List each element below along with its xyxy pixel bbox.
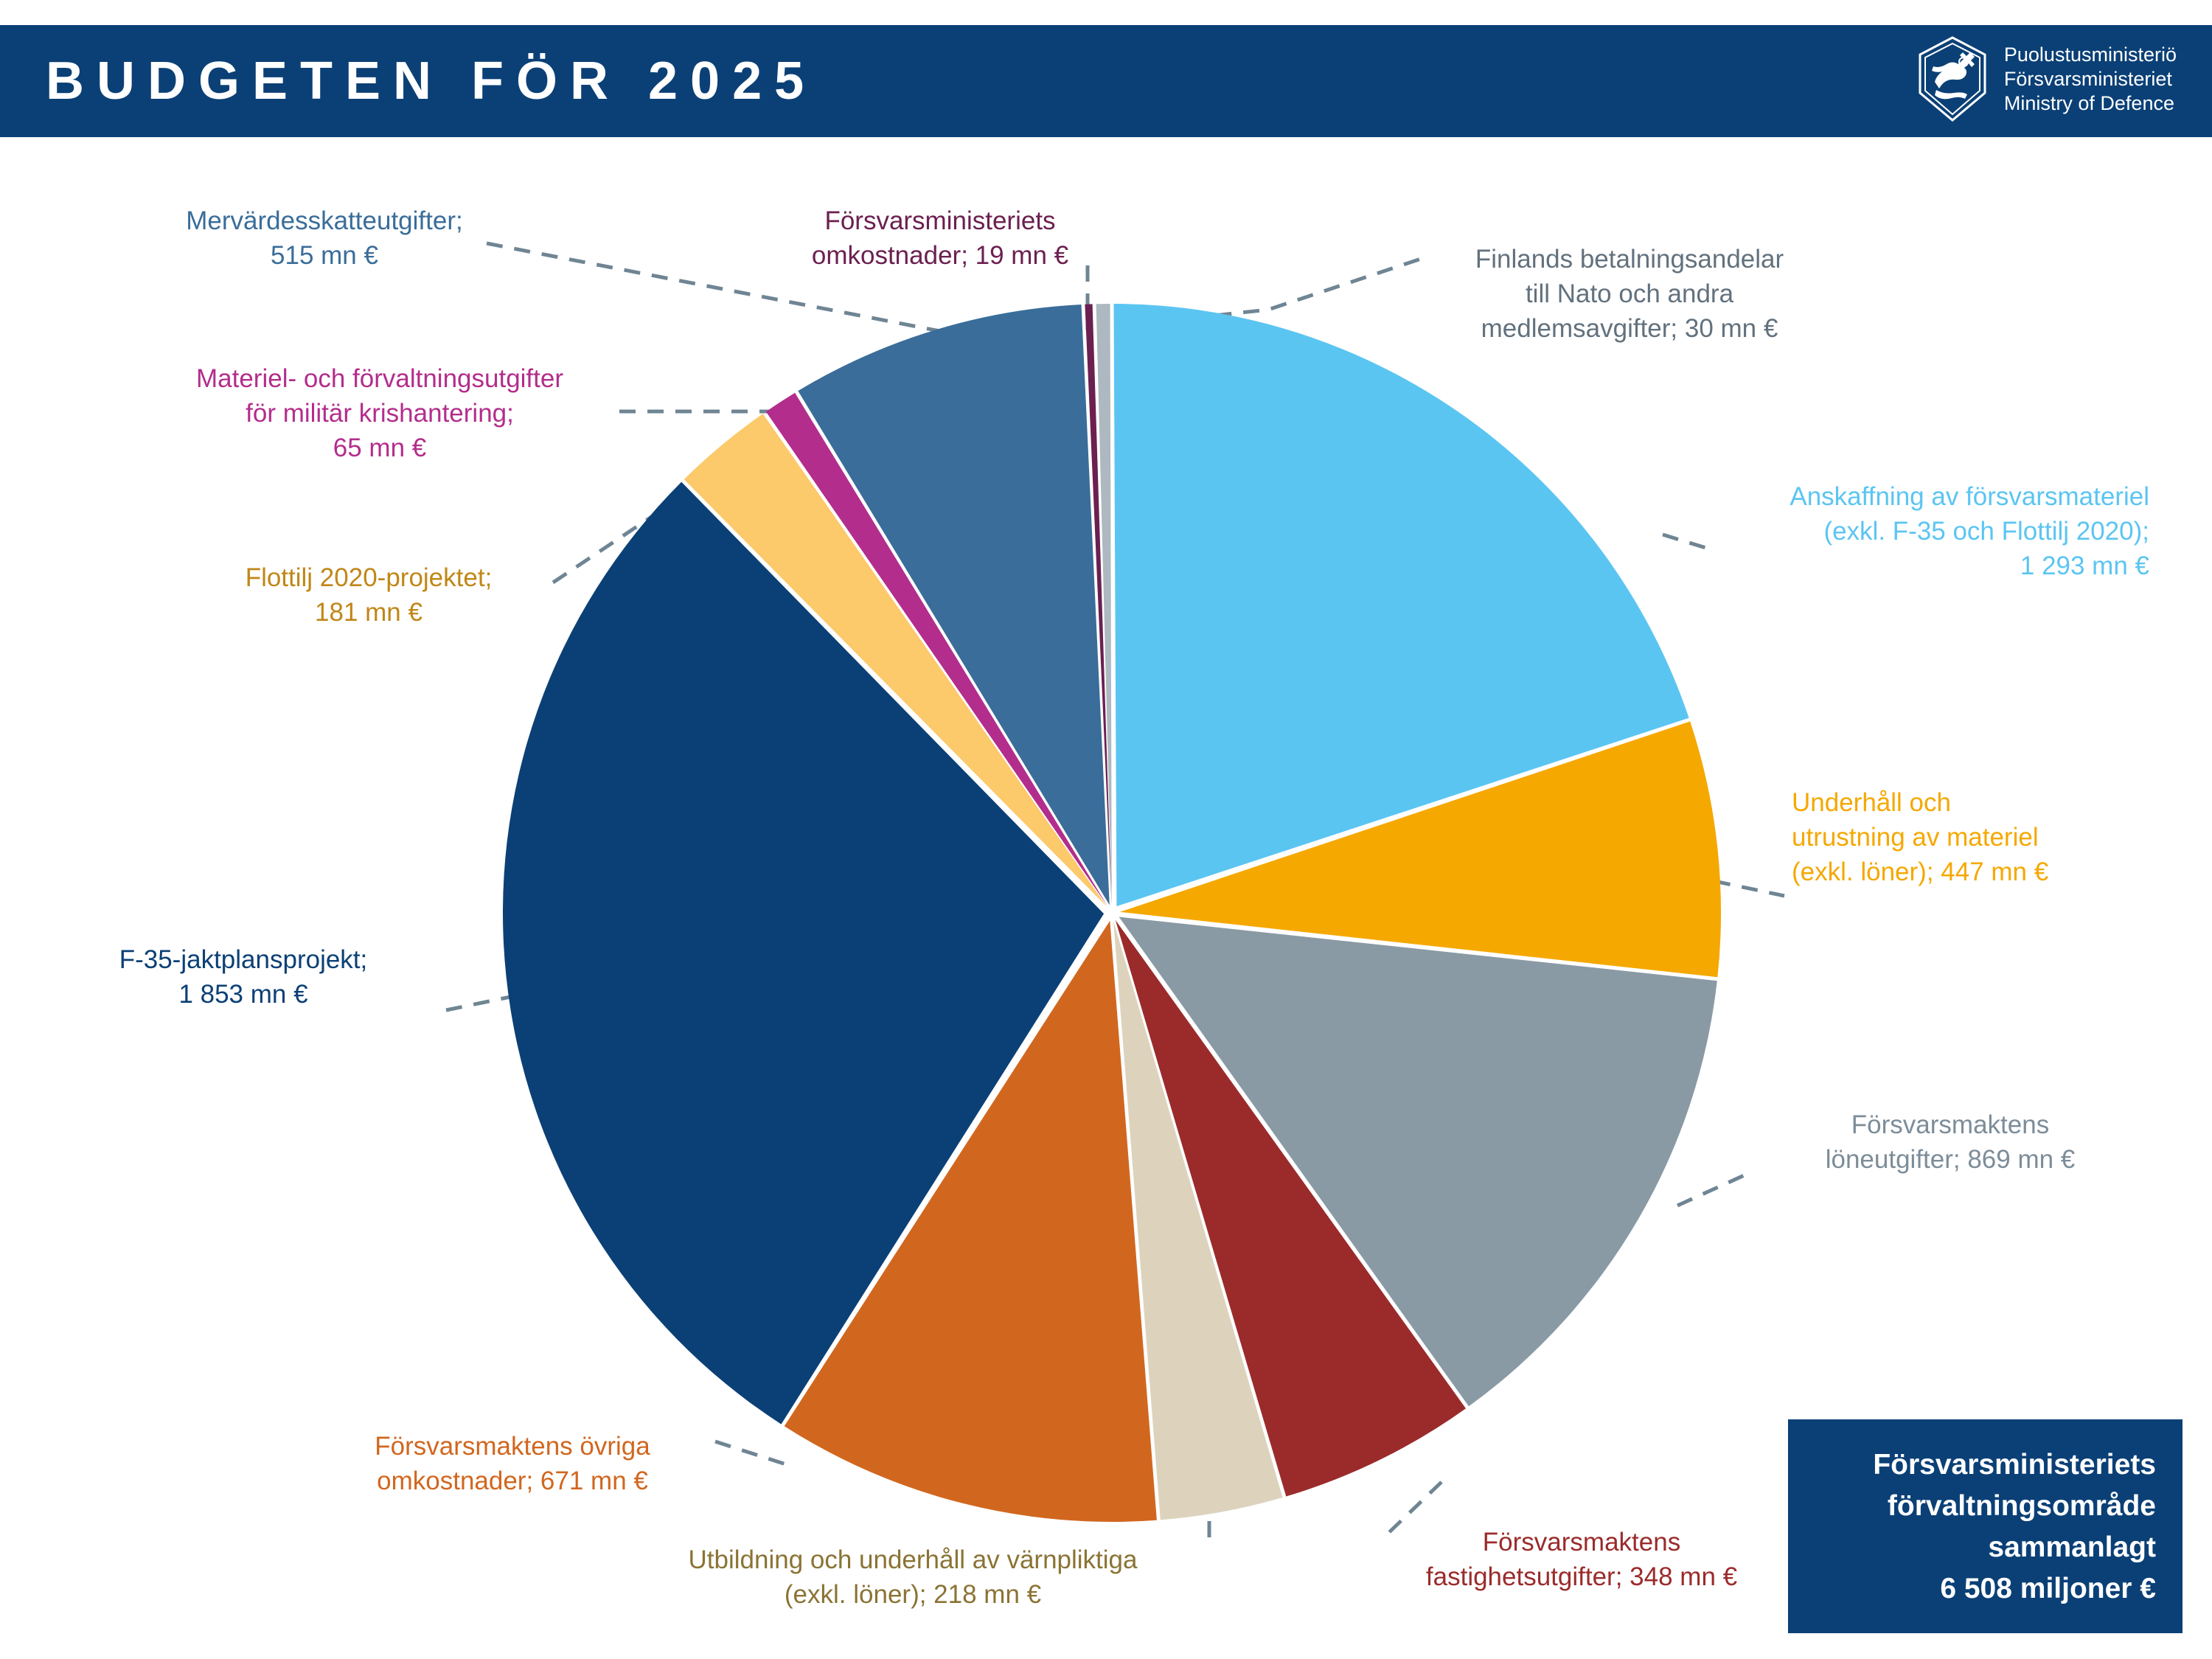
- label-nato: Finlands betalningsandelar till Nato och…: [1419, 242, 1840, 346]
- logo-line-en: Ministry of Defence: [2004, 91, 2177, 116]
- label-ovriga-omkostnader: Försvarsmaktens övriga omkostnader; 671 …: [310, 1429, 715, 1498]
- label-utbildning: Utbildning och underhåll av värnpliktiga…: [618, 1543, 1208, 1612]
- leader-underhall: [1714, 881, 1784, 896]
- ministry-logo: Puolustusministeriö Försvarsministeriet …: [1917, 35, 2177, 122]
- label-fastighetsutgifter: Försvarsmaktens fastighetsutgifter; 348 …: [1368, 1525, 1795, 1594]
- pie-chart-svg: [500, 301, 1724, 1525]
- label-f35: F-35-jaktplansprojekt; 1 853 mn €: [44, 942, 442, 1012]
- total-summary-box: Försvarsministeriets förvaltningsområde …: [1788, 1419, 2183, 1633]
- logo-line-fi: Puolustusministeriö: [2004, 43, 2177, 67]
- label-materiel-krishantering: Materiel- och förvaltningsutgifter för m…: [125, 361, 634, 465]
- page-header: BUDGETEN FÖR 2025 Puolustusministeriö Fö…: [0, 25, 2212, 137]
- label-flottilj: Flottilj 2020-projektet; 181 mn €: [173, 560, 564, 630]
- logo-line-sv: Försvarsministeriet: [2004, 67, 2177, 91]
- label-anskaffning: Anskaffning av försvarsmateriel (exkl. F…: [1655, 479, 2149, 583]
- label-mervardesskatt: Mervärdesskatteutgifter; 515 mn €: [125, 204, 524, 273]
- ministry-logo-text: Puolustusministeriö Försvarsministeriet …: [2004, 43, 2177, 116]
- finland-coat-of-arms-icon: [1917, 35, 1988, 122]
- label-underhall: Underhåll och utrustning av materiel (ex…: [1792, 785, 2175, 889]
- page-title: BUDGETEN FÖR 2025: [46, 46, 816, 116]
- label-loneutgifter: Försvarsmaktens löneutgifter; 869 mn €: [1729, 1107, 2171, 1177]
- label-forsvarsmin-omkostnader: Försvarsministeriets omkostnader; 19 mn …: [745, 204, 1135, 273]
- pie-chart: [500, 301, 1724, 1525]
